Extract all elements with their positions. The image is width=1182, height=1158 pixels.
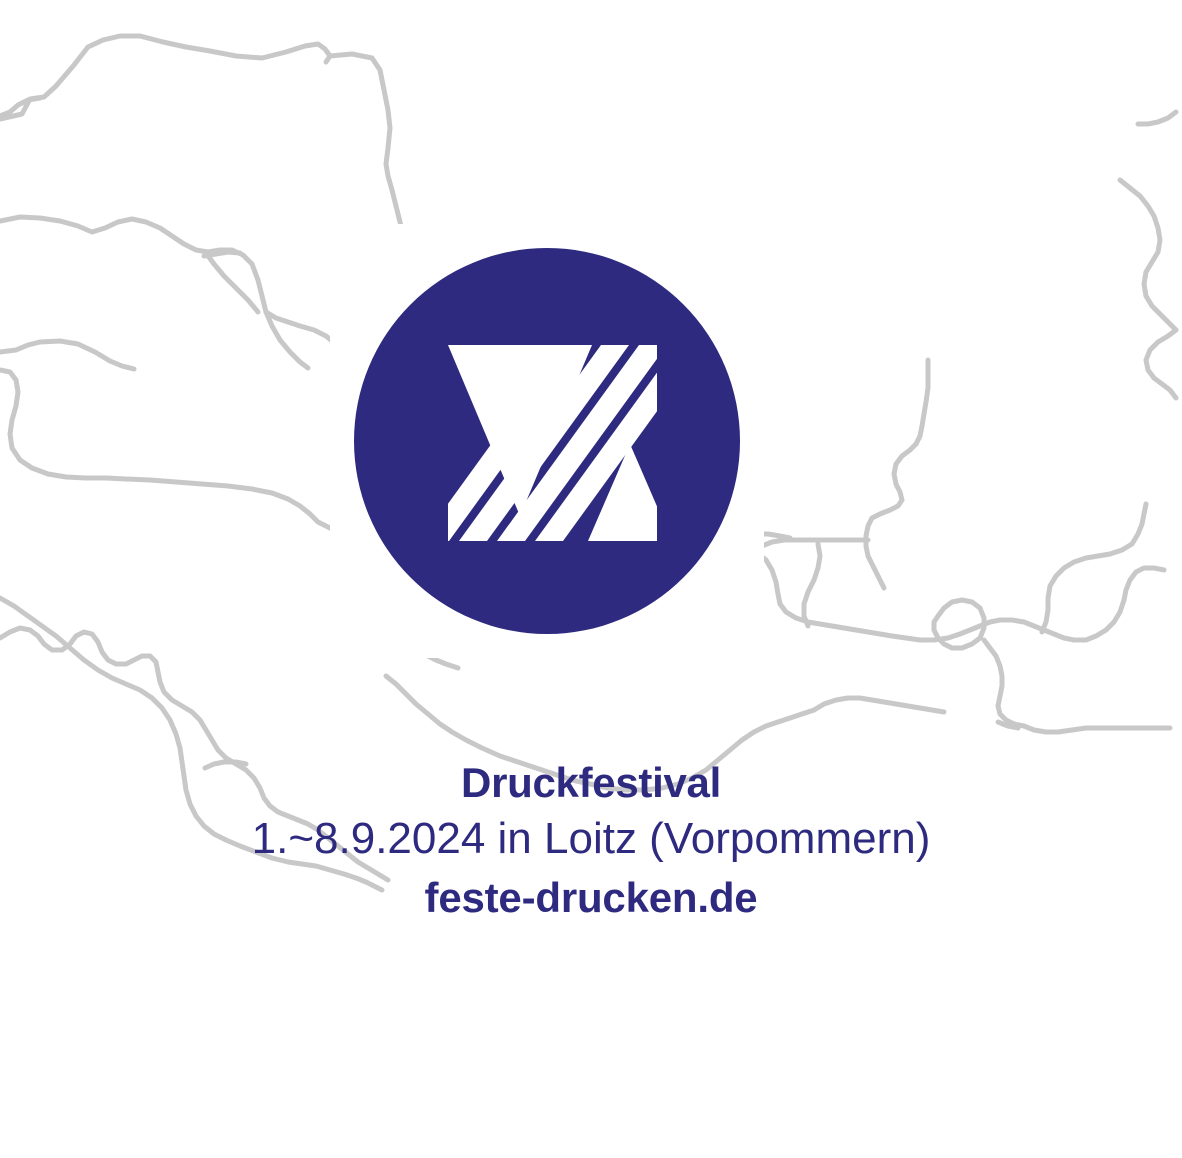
page-title: Druckfestival [0, 758, 1182, 808]
festival-text-block: Druckfestival 1.~8.9.2024 in Loitz (Vorp… [0, 758, 1182, 926]
poster-canvas: Druckfestival 1.~8.9.2024 in Loitz (Vorp… [0, 0, 1182, 1158]
map-background [0, 0, 1182, 1158]
website-url[interactable]: feste-drucken.de [0, 870, 1182, 926]
date-location-line: 1.~8.9.2024 in Loitz (Vorpommern) [0, 808, 1182, 870]
